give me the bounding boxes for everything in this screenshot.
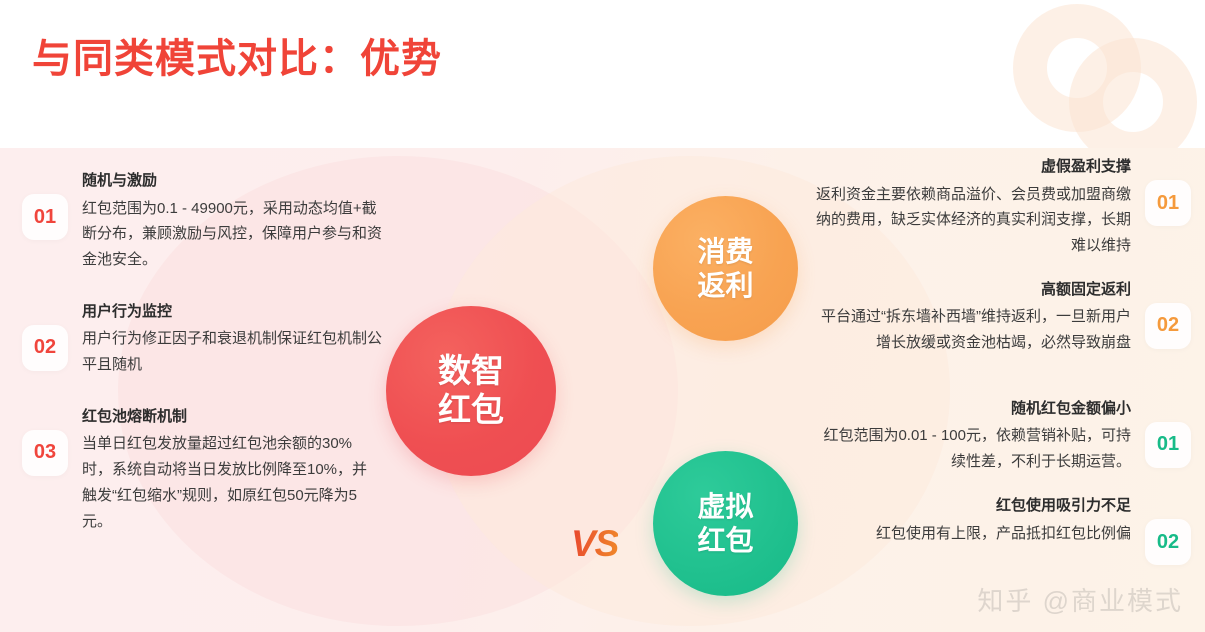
vs-label: VS (571, 523, 618, 565)
bubble-consumer-rebate[interactable]: 消费返利 (653, 196, 798, 341)
slide-root: 与同类模式对比：优势 01 随机与激励 红包范围为0.1 - 49900元，采用… (0, 0, 1205, 632)
item-heading: 用户行为监控 (82, 301, 382, 324)
item-number-badge: 03 (22, 430, 68, 476)
list-item[interactable]: 02 用户行为监控 用户行为修正因子和衰退机制保证红包机制公平且随机 (22, 301, 382, 378)
item-number-badge: 01 (1145, 180, 1191, 226)
list-item[interactable]: 03 红包池熔断机制 当单日红包发放量超过红包池余额的30%时，系统自动将当日发… (22, 406, 382, 535)
item-body: 平台通过“拆东墙补西墙”维持返利，一旦新用户增长放缓或资金池枯竭，必然导致崩盘 (811, 304, 1131, 356)
list-item[interactable]: 高额固定返利 平台通过“拆东墙补西墙”维持返利，一旦新用户增长放缓或资金池枯竭，… (811, 279, 1191, 356)
item-text: 随机与激励 红包范围为0.1 - 49900元，采用动态均值+截断分布，兼顾激励… (68, 170, 382, 273)
watermark: 知乎 @商业模式 (977, 581, 1183, 618)
item-body: 红包范围为0.01 - 100元，依赖营销补贴，可持续性差，不利于长期运营。 (811, 423, 1131, 475)
item-heading: 虚假盈利支撑 (811, 156, 1131, 179)
item-number-badge: 01 (22, 194, 68, 240)
item-text: 红包池熔断机制 当单日红包发放量超过红包池余额的30%时，系统自动将当日发放比例… (68, 406, 382, 535)
list-item[interactable]: 随机红包金额偏小 红包范围为0.01 - 100元，依赖营销补贴，可持续性差，不… (811, 398, 1191, 475)
list-item[interactable]: 虚假盈利支撑 返利资金主要依赖商品溢价、会员费或加盟商缴纳的费用，缺乏实体经济的… (811, 156, 1191, 259)
bubble-label: 虚拟红包 (697, 490, 753, 556)
bubble-label: 数智红包 (438, 352, 504, 430)
item-text: 虚假盈利支撑 返利资金主要依赖商品溢价、会员费或加盟商缴纳的费用，缺乏实体经济的… (811, 156, 1145, 259)
item-number-badge: 02 (1145, 303, 1191, 349)
item-heading: 红包池熔断机制 (82, 406, 382, 429)
list-item[interactable]: 红包使用吸引力不足 红包使用有上限，产品抵扣红包比例偏 02 (811, 495, 1191, 565)
item-number-badge: 02 (22, 325, 68, 371)
ring-icon (1069, 38, 1197, 166)
bubble-smart-redpacket[interactable]: 数智红包 (386, 306, 556, 476)
advantages-column: 01 随机与激励 红包范围为0.1 - 49900元，采用动态均值+截断分布，兼… (22, 170, 382, 563)
item-body: 当单日红包发放量超过红包池余额的30%时，系统自动将当日发放比例降至10%，并触… (82, 431, 382, 534)
item-text: 随机红包金额偏小 红包范围为0.01 - 100元，依赖营销补贴，可持续性差，不… (811, 398, 1145, 475)
item-body: 红包范围为0.1 - 49900元，采用动态均值+截断分布，兼顾激励与风控，保障… (82, 196, 382, 273)
item-body: 红包使用有上限，产品抵扣红包比例偏 (811, 521, 1131, 547)
item-number-badge: 02 (1145, 519, 1191, 565)
bubble-label: 消费返利 (697, 235, 753, 301)
item-heading: 随机与激励 (82, 170, 382, 193)
item-heading: 高额固定返利 (811, 279, 1131, 302)
item-body: 返利资金主要依赖商品溢价、会员费或加盟商缴纳的费用，缺乏实体经济的真实利润支撑，… (811, 182, 1131, 259)
comparison-panel: 01 随机与激励 红包范围为0.1 - 49900元，采用动态均值+截断分布，兼… (0, 148, 1205, 632)
drawbacks-column: 虚假盈利支撑 返利资金主要依赖商品溢价、会员费或加盟商缴纳的费用，缺乏实体经济的… (811, 156, 1191, 585)
item-heading: 红包使用吸引力不足 (811, 495, 1131, 518)
item-text: 高额固定返利 平台通过“拆东墙补西墙”维持返利，一旦新用户增长放缓或资金池枯竭，… (811, 279, 1145, 356)
item-body: 用户行为修正因子和衰退机制保证红包机制公平且随机 (82, 326, 382, 378)
item-text: 用户行为监控 用户行为修正因子和衰退机制保证红包机制公平且随机 (68, 301, 382, 378)
decorative-rings (995, 0, 1195, 142)
item-heading: 随机红包金额偏小 (811, 398, 1131, 421)
list-item[interactable]: 01 随机与激励 红包范围为0.1 - 49900元，采用动态均值+截断分布，兼… (22, 170, 382, 273)
item-text: 红包使用吸引力不足 红包使用有上限，产品抵扣红包比例偏 (811, 495, 1145, 546)
page-title: 与同类模式对比：优势 (32, 26, 442, 84)
item-number-badge: 01 (1145, 422, 1191, 468)
ring-icon (1013, 4, 1141, 132)
bubble-virtual-redpacket[interactable]: 虚拟红包 (653, 451, 798, 596)
